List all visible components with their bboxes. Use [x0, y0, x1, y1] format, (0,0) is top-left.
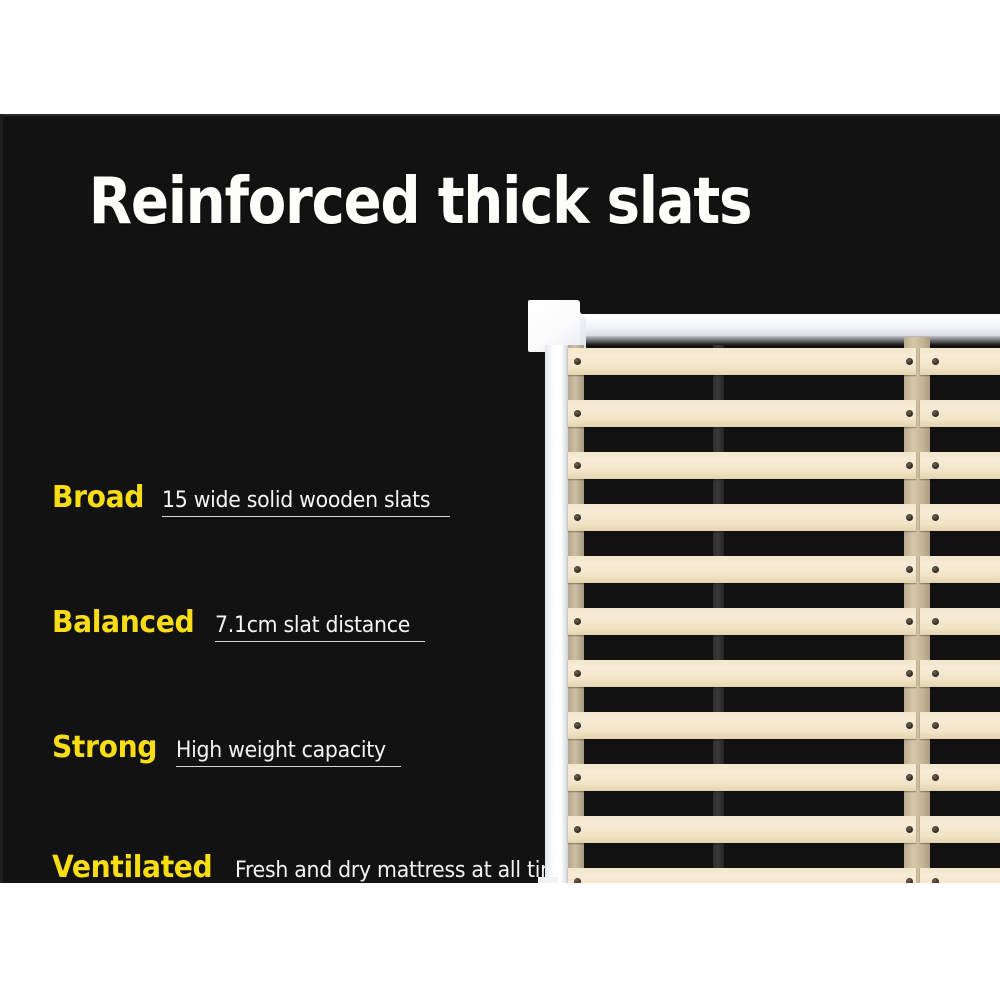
slat-screw-icon [932, 618, 939, 625]
left-vertical-post [545, 345, 568, 883]
slat-screw-icon [906, 670, 913, 677]
wooden-slat [568, 504, 916, 531]
wooden-slat [568, 764, 916, 791]
wooden-slat [568, 712, 916, 739]
slat-screw-icon [574, 722, 581, 729]
wooden-slat [568, 660, 916, 687]
slat-screw-icon [932, 514, 939, 521]
wooden-slat [920, 816, 1000, 843]
feature-desc-balanced: 7.1cm slat distance [215, 613, 410, 638]
wooden-slat [920, 504, 1000, 531]
slat-screw-icon [574, 514, 581, 521]
feature-item-strong: Strong High weight capacity [52, 730, 401, 767]
slat-screw-icon [574, 774, 581, 781]
slat-screw-icon [574, 462, 581, 469]
wooden-slat [920, 400, 1000, 427]
slat-screw-icon [906, 722, 913, 729]
slat-screw-icon [932, 722, 939, 729]
feature-item-broad: Broad 15 wide solid wooden slats [52, 480, 450, 517]
wooden-slat [920, 868, 1000, 883]
feature-term-strong: Strong [52, 730, 157, 765]
top-rail-shadow [572, 336, 1000, 345]
wooden-slat [568, 556, 916, 583]
wooden-slat [920, 660, 1000, 687]
slat-screw-icon [906, 358, 913, 365]
slat-screw-icon [906, 462, 913, 469]
wooden-slat [568, 400, 916, 427]
slat-screw-icon [574, 670, 581, 677]
panel-left-edge [0, 114, 3, 883]
feature-term-ventilated: Ventilated [52, 850, 212, 883]
wooden-slat [920, 556, 1000, 583]
slat-screw-icon [906, 410, 913, 417]
product-feature-banner: Reinforced thick slats Broad 15 wide sol… [0, 0, 1000, 1000]
wooden-slat [568, 816, 916, 843]
slat-screw-icon [906, 826, 913, 833]
slat-screw-icon [932, 566, 939, 573]
wooden-slat [568, 452, 916, 479]
feature-desc-underline-balanced: 7.1cm slat distance [215, 613, 425, 642]
wooden-slat [920, 712, 1000, 739]
feature-desc-underline-strong: High weight capacity [176, 738, 402, 767]
slat-screw-icon [574, 566, 581, 573]
bottom-white-margin [0, 883, 1000, 1000]
slat-screw-icon [574, 826, 581, 833]
slat-screw-icon [574, 410, 581, 417]
feature-desc-strong: High weight capacity [176, 738, 386, 763]
slat-screw-icon [932, 462, 939, 469]
slat-screw-icon [932, 826, 939, 833]
wooden-slat [920, 608, 1000, 635]
slat-screw-icon [932, 410, 939, 417]
slat-screw-icon [906, 618, 913, 625]
slat-screw-icon [906, 774, 913, 781]
slat-screw-icon [574, 618, 581, 625]
wooden-slat [920, 764, 1000, 791]
wooden-slat [568, 348, 916, 375]
wooden-slat [920, 348, 1000, 375]
slat-screw-icon [932, 670, 939, 677]
feature-item-balanced: Balanced 7.1cm slat distance [52, 605, 425, 642]
top-horizontal-rail [538, 314, 1000, 336]
slat-screw-icon [906, 566, 913, 573]
feature-term-broad: Broad [52, 480, 144, 515]
black-content-panel: Reinforced thick slats Broad 15 wide sol… [0, 114, 1000, 883]
slat-screw-icon [932, 358, 939, 365]
wooden-slat [568, 608, 916, 635]
panel-top-edge [0, 114, 1000, 116]
feature-term-balanced: Balanced [52, 605, 194, 640]
wooden-slat [568, 868, 916, 883]
slat-screw-icon [574, 358, 581, 365]
slat-screw-icon [932, 774, 939, 781]
bed-frame-photo [500, 289, 1000, 883]
slat-screw-icon [906, 514, 913, 521]
feature-desc-underline-broad: 15 wide solid wooden slats [162, 488, 450, 517]
feature-desc-broad: 15 wide solid wooden slats [162, 488, 430, 513]
wooden-slat [920, 452, 1000, 479]
page-title: Reinforced thick slats [50, 169, 789, 236]
